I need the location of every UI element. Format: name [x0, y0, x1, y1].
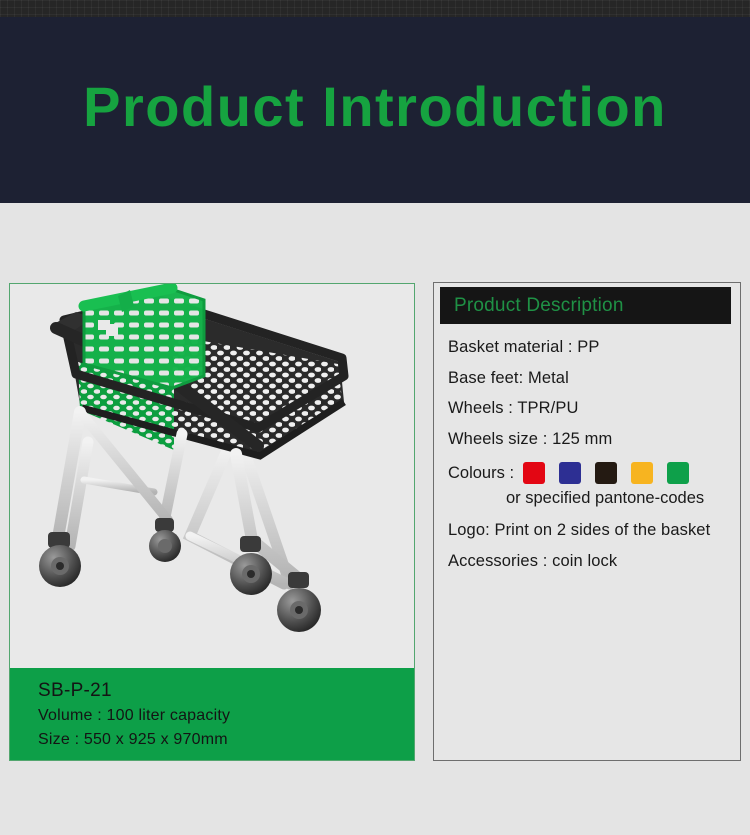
spec-colours-row: Colours : [448, 461, 730, 485]
product-description-panel: Product Description Basket material : PP… [433, 282, 741, 761]
shopping-trolley-illustration [22, 284, 402, 670]
colour-swatch-green[interactable] [667, 462, 689, 484]
spec-accessories: Accessories : coin lock [448, 553, 730, 570]
spec-wheels-size: Wheels size : 125 mm [448, 431, 730, 448]
product-caption: SB-P-21 Volume : 100 liter capacity Size… [10, 668, 414, 760]
spec-pantone-note: or specified pantone-codes [506, 489, 730, 508]
colour-swatch-yellow[interactable] [631, 462, 653, 484]
decorative-top-strip [0, 0, 750, 17]
product-code: SB-P-21 [38, 678, 414, 704]
product-card[interactable]: SB-P-21 Volume : 100 liter capacity Size… [9, 283, 415, 761]
page-title: Product Introduction [83, 79, 667, 135]
colour-swatch-red[interactable] [523, 462, 545, 484]
spec-wheels: Wheels : TPR/PU [448, 400, 730, 417]
product-image [10, 284, 414, 670]
description-header-title: Product Description [454, 295, 624, 317]
description-header-bar: Product Description [440, 287, 731, 324]
spec-colours-label: Colours : [448, 464, 514, 483]
product-volume: Volume : 100 liter capacity [38, 704, 414, 728]
caster-wheel [149, 518, 181, 562]
spec-base-feet: Base feet: Metal [448, 370, 730, 387]
colour-swatch-blue[interactable] [559, 462, 581, 484]
spec-basket-material: Basket material : PP [448, 339, 730, 356]
page-header: Product Introduction [0, 17, 750, 203]
colour-swatch-black[interactable] [595, 462, 617, 484]
main-content: SB-P-21 Volume : 100 liter capacity Size… [0, 203, 750, 835]
description-body: Basket material : PP Base feet: Metal Wh… [434, 326, 740, 760]
spec-logo: Logo: Print on 2 sides of the basket [448, 522, 730, 539]
product-size: Size : 550 x 925 x 970mm [38, 728, 414, 752]
